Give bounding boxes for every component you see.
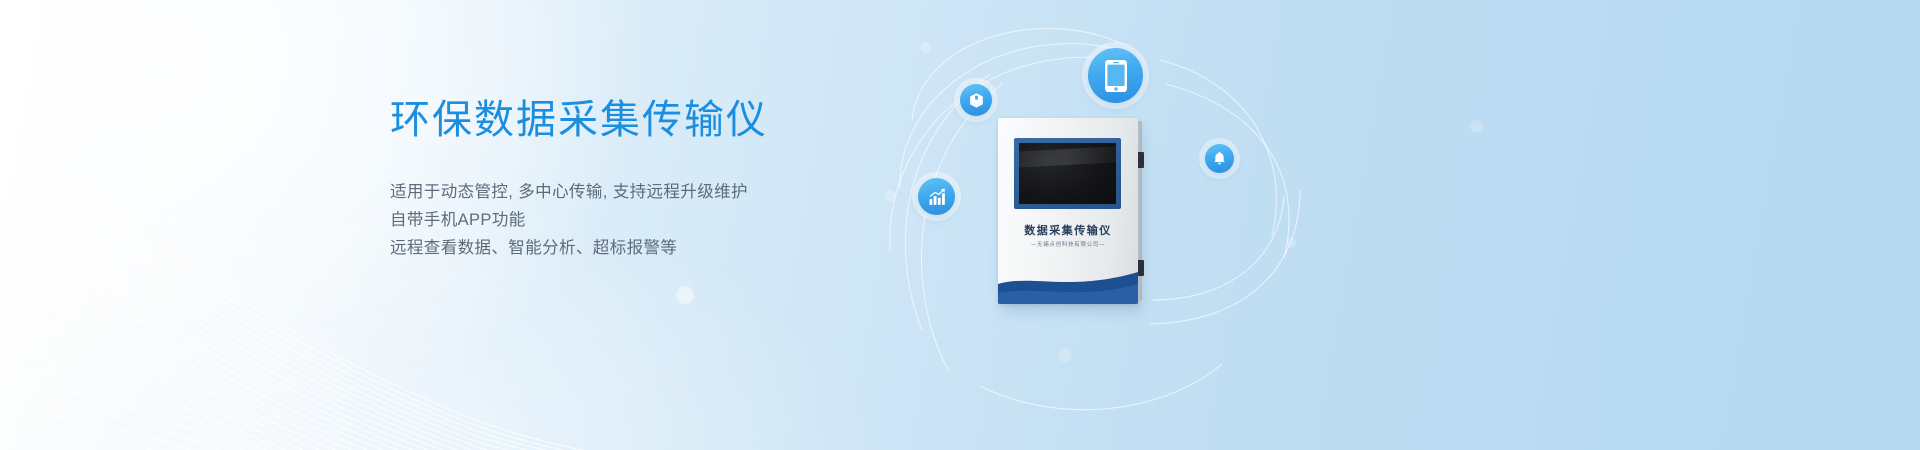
device-latch-bottom xyxy=(1137,260,1144,276)
device-company-label: —无锡点创科技有限公司— xyxy=(998,240,1138,248)
device-brand-label: 数据采集传输仪 xyxy=(998,222,1138,238)
device-bottom-wave xyxy=(998,262,1138,304)
bar-chart-icon[interactable] xyxy=(918,178,955,215)
mobile-phone-icon[interactable] xyxy=(1088,48,1143,103)
package-icon[interactable] xyxy=(960,84,992,116)
alarm-bell-icon[interactable] xyxy=(1205,144,1234,173)
device-screen xyxy=(1019,143,1116,204)
device-front-panel: 数据采集传输仪 —无锡点创科技有限公司— xyxy=(998,118,1138,304)
bokeh-dot xyxy=(112,278,128,294)
bokeh-dot xyxy=(676,286,694,304)
product-hero-banner: 环保数据采集传输仪 适用于动态管控, 多中心传输, 支持远程升级维护 自带手机A… xyxy=(0,0,1920,450)
data-acquisition-device: 数据采集传输仪 —无锡点创科技有限公司— xyxy=(998,118,1144,308)
device-latch-top xyxy=(1137,152,1144,168)
bokeh-dot xyxy=(168,214,177,223)
bokeh-dot xyxy=(1470,120,1483,133)
device-illustration: 数据采集传输仪 —无锡点创科技有限公司— xyxy=(860,0,1420,450)
device-screen-bezel xyxy=(1014,138,1121,209)
